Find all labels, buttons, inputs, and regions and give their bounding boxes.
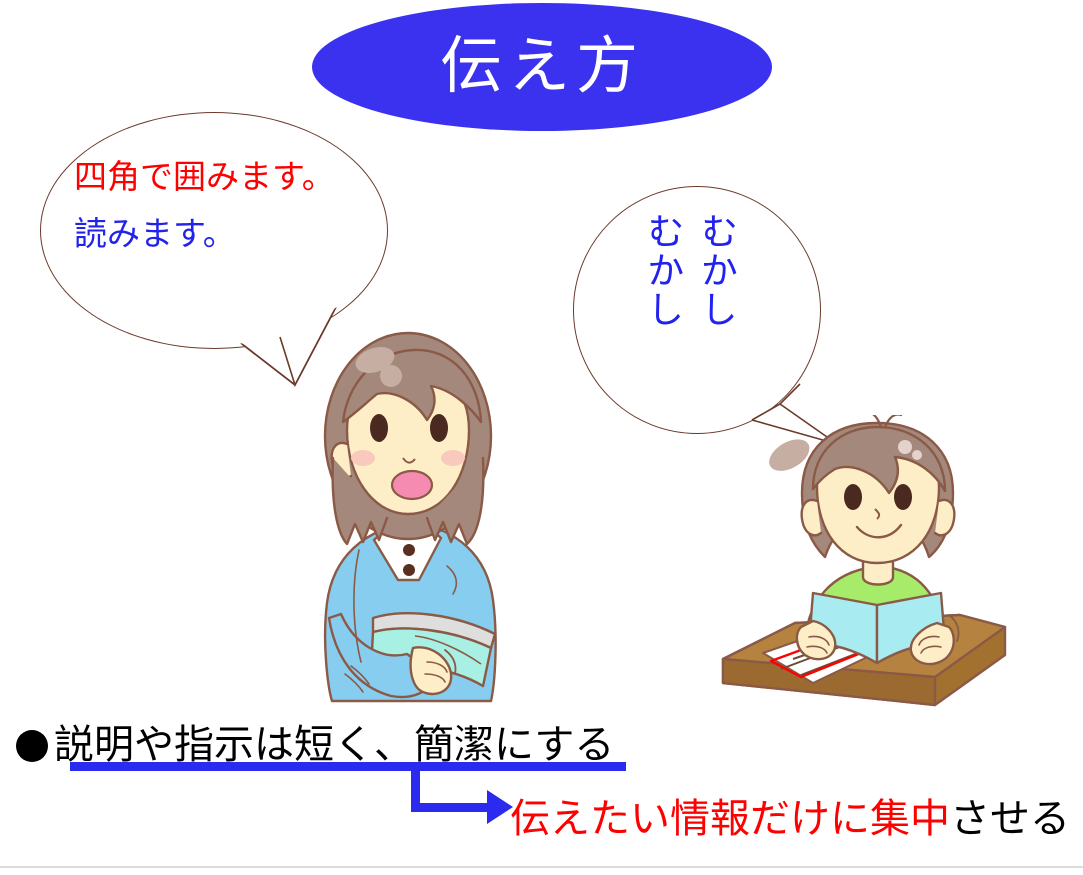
- bubble-right-column-1: むかし: [689, 212, 743, 412]
- bottom-conclusion-line: 伝えたい情報だけに集中させる: [510, 786, 1070, 844]
- bubble-left-line-1: 四角で囲みます。: [74, 160, 364, 195]
- speech-bubble-right-text: むかし むかし: [635, 212, 742, 412]
- slide-canvas: 伝え方 四角で囲みます。 読みます。 むかし むかし: [0, 0, 1083, 875]
- standing-girl-with-book-illustration: [295, 318, 525, 713]
- bottom-conclusion-rest: させる: [950, 797, 1070, 841]
- bubble-left-line-2: 読みます。: [74, 217, 364, 252]
- blue-underline-bar: [70, 762, 626, 771]
- bullet-dot-icon: [16, 730, 48, 762]
- bottom-conclusion-highlight: 伝えたい情報だけに集中: [510, 797, 950, 841]
- page-title: 伝え方: [440, 36, 644, 98]
- bottom-statement-text: 説明や指示は短く、簡潔にする: [54, 723, 614, 767]
- bottom-divider: [0, 866, 1083, 868]
- seated-boy-reading-at-desk-illustration: [705, 415, 1035, 725]
- arrow-horizontal-segment: [411, 803, 493, 812]
- bubble-right-column-2: むかし: [635, 212, 689, 412]
- speech-bubble-left-text: 四角で囲みます。 読みます。: [74, 160, 364, 251]
- speech-bubble-left: 四角で囲みます。 読みます。: [40, 112, 388, 349]
